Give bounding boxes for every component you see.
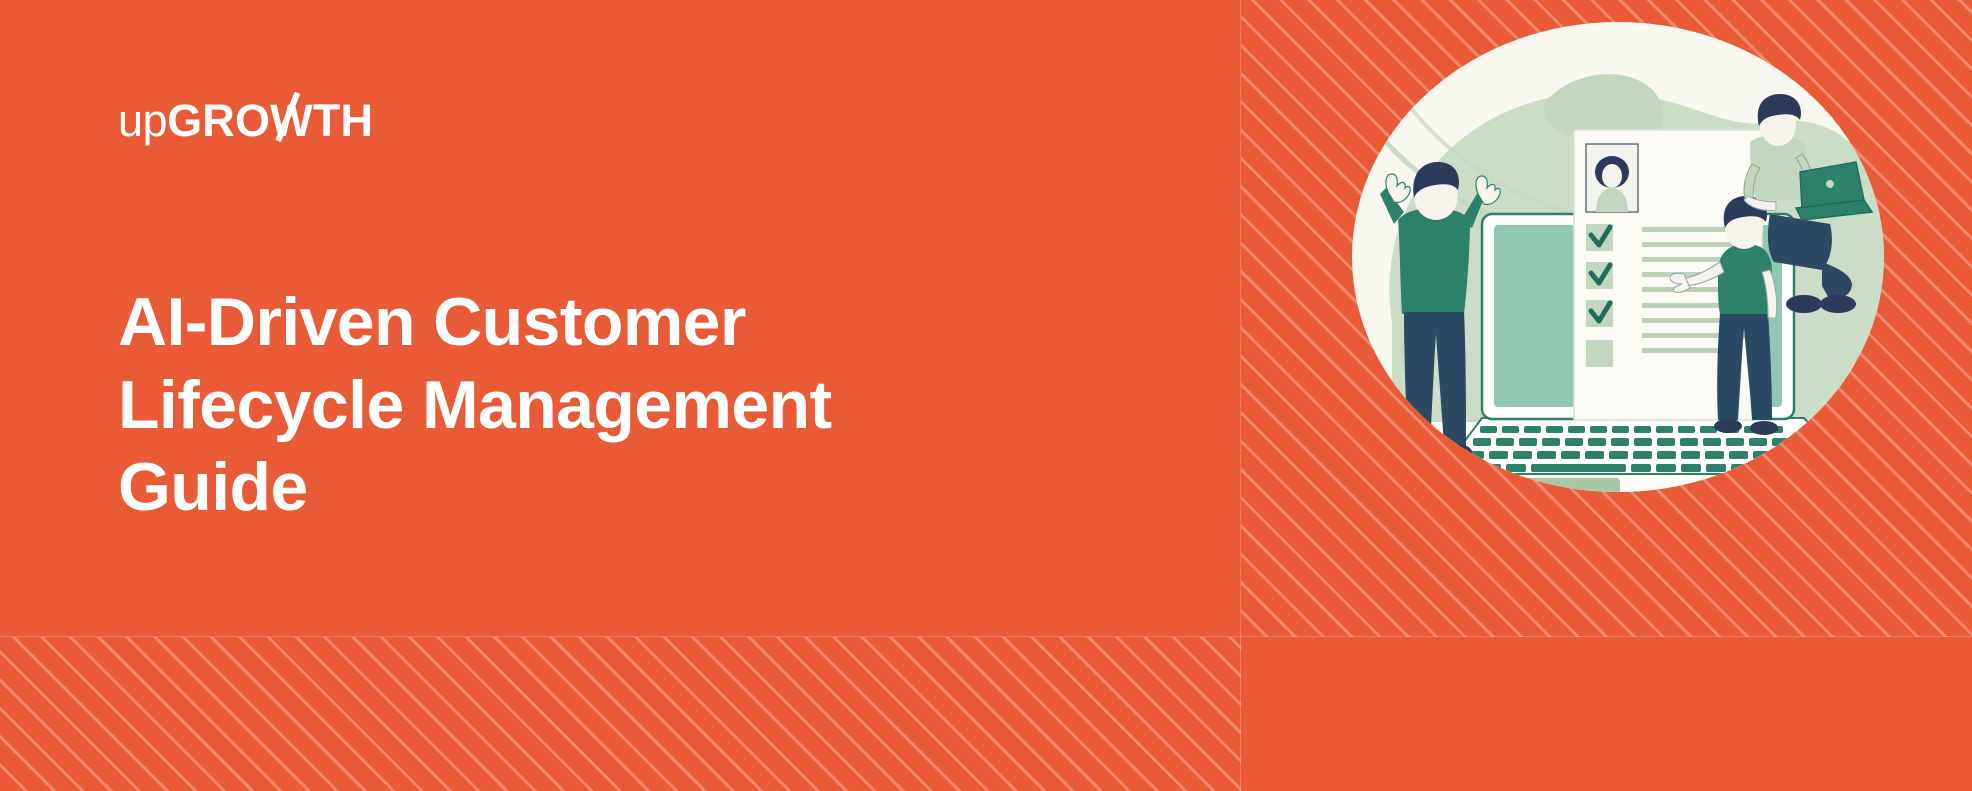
avatar-photo (1586, 144, 1638, 212)
shoe-right (1820, 295, 1856, 313)
brand-logo[interactable]: up GROWTH (118, 98, 373, 143)
torso-sweater (1398, 208, 1470, 314)
shoe-left (1714, 419, 1742, 433)
shoe-left (1786, 295, 1822, 313)
checkbox-unchecked (1586, 340, 1613, 367)
logo-growth-label: GROWTH (167, 95, 373, 146)
diagonal-stripes-bottom-left (0, 637, 1241, 791)
hero-illustration (1352, 22, 1884, 492)
shoe-right (1750, 421, 1778, 435)
laptop-trackpad (1502, 478, 1620, 492)
headline-line-1: AI-Driven Customer (118, 281, 1018, 364)
headline-line-3: Guide (118, 446, 1018, 529)
vertical-divider (1240, 0, 1241, 791)
page-title: AI-Driven Customer Lifecycle Management … (118, 281, 1018, 530)
illustration-svg (1352, 22, 1884, 492)
headline-line-2: Lifecycle Management (118, 364, 1018, 447)
shoe-left (1402, 444, 1434, 460)
shoe-right (1440, 444, 1472, 460)
logo-text-growth: GROWTH (167, 98, 373, 143)
horizontal-divider (0, 636, 1972, 637)
logo-text-up: up (118, 98, 167, 143)
promotional-banner: up GROWTH AI-Driven Customer Lifecycle M… (0, 0, 1972, 791)
